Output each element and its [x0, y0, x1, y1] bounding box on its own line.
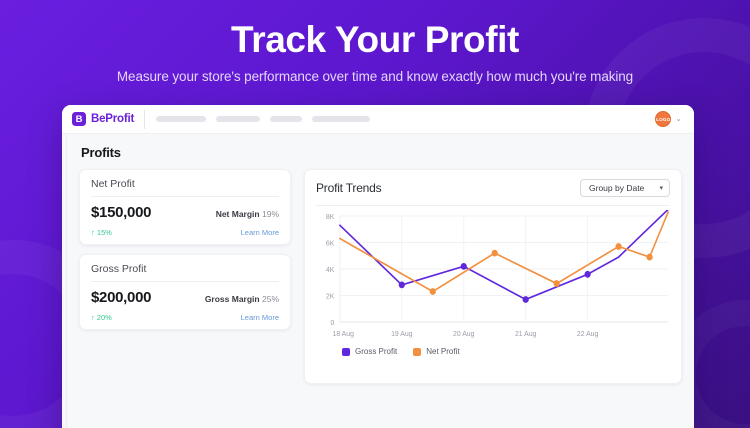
divider [91, 281, 279, 282]
legend-label: Net Profit [426, 347, 459, 356]
data-point-net-profit [615, 243, 621, 250]
promo-banner: Track Your Profit Measure your store's p… [0, 0, 750, 428]
kpi-label: Gross Profit [91, 263, 279, 281]
kpi-value: $150,000 [91, 204, 151, 221]
chart-legend: Gross ProfitNet Profit [316, 342, 670, 356]
kpi-delta-up: ↑ 15% [91, 228, 112, 237]
brand-name: BeProfit [91, 113, 134, 125]
account-logo-avatar: LOGO [655, 111, 671, 127]
brand-logo[interactable]: B BeProfit [72, 110, 145, 129]
kpi-margin: Gross Margin 25% [205, 294, 279, 304]
legend-swatch-icon [342, 348, 350, 356]
y-tick-label: 6K [326, 238, 335, 247]
nav-placeholder-4[interactable] [312, 116, 370, 122]
divider [91, 196, 279, 197]
y-tick-label: 2K [326, 291, 335, 300]
nav-placeholder-3[interactable] [270, 116, 302, 122]
chevron-down-icon: ▾ [659, 184, 663, 192]
kpi-delta-up: ↑ 20% [91, 313, 112, 322]
kpi-column: Net Profit $150,000 Net Margin 19% ↑ 15%… [79, 169, 291, 330]
kpi-footer-row: ↑ 15% Learn More [91, 221, 279, 237]
app-topbar: B BeProfit LOGO ⌄ [62, 105, 694, 134]
divider [316, 205, 670, 206]
nav-placeholder-1[interactable] [156, 116, 206, 122]
data-point-net-profit [554, 280, 560, 287]
y-tick-label: 0 [331, 318, 335, 327]
kpi-margin-value: 19% [262, 209, 279, 219]
chart-header: Profit Trends Group by Date ▾ [316, 179, 670, 197]
x-tick-label: 21 Aug [515, 329, 536, 338]
legend-label: Gross Profit [355, 347, 397, 356]
data-point-net-profit [646, 254, 652, 261]
legend-item-1[interactable]: Net Profit [413, 347, 459, 356]
data-point-net-profit [430, 288, 436, 295]
kpi-main-row: $150,000 Net Margin 19% [91, 204, 279, 221]
data-point-gross-profit [585, 271, 591, 278]
legend-swatch-icon [413, 348, 421, 356]
kpi-value: $200,000 [91, 289, 151, 306]
learn-more-link[interactable]: Learn More [241, 228, 279, 237]
kpi-margin: Net Margin 19% [216, 209, 279, 219]
app-body: Profits Net Profit $150,000 Net Margin 1… [62, 134, 694, 428]
account-menu[interactable]: LOGO ⌄ [655, 111, 682, 127]
kpi-margin-label: Net Margin [216, 209, 260, 219]
profit-trends-panel: Profit Trends Group by Date ▾ 02K4K6K8K1… [304, 169, 682, 384]
learn-more-link[interactable]: Learn More [241, 313, 279, 322]
x-tick-label: 20 Aug [453, 329, 474, 338]
content-area: Profits Net Profit $150,000 Net Margin 1… [67, 134, 694, 428]
kpi-main-row: $200,000 Gross Margin 25% [91, 289, 279, 306]
data-point-gross-profit [523, 296, 529, 303]
y-tick-label: 8K [326, 212, 335, 221]
panels-row: Net Profit $150,000 Net Margin 19% ↑ 15%… [79, 169, 682, 384]
data-point-gross-profit [461, 263, 467, 270]
app-window-mockup: B BeProfit LOGO ⌄ Profits Net Profit [62, 105, 694, 428]
x-tick-label: 18 Aug [333, 329, 354, 338]
kpi-footer-row: ↑ 20% Learn More [91, 306, 279, 322]
kpi-margin-label: Gross Margin [205, 294, 260, 304]
hero-subtitle: Measure your store's performance over ti… [0, 60, 750, 84]
kpi-card-net-profit[interactable]: Net Profit $150,000 Net Margin 19% ↑ 15%… [79, 169, 291, 245]
kpi-card-gross-profit[interactable]: Gross Profit $200,000 Gross Margin 25% ↑… [79, 254, 291, 330]
series-line-gross-profit [340, 210, 668, 299]
chart-plot-area[interactable]: 02K4K6K8K18 Aug19 Aug20 Aug21 Aug22 Aug [316, 210, 670, 342]
nav-placeholders [156, 116, 655, 122]
chevron-down-icon: ⌄ [675, 115, 682, 123]
beprofit-badge-icon: B [72, 112, 86, 126]
kpi-margin-value: 25% [262, 294, 279, 304]
page-title: Profits [79, 144, 682, 169]
data-point-net-profit [492, 250, 498, 257]
hero-title: Track Your Profit [0, 0, 750, 60]
x-tick-label: 19 Aug [391, 329, 412, 338]
x-tick-label: 22 Aug [577, 329, 598, 338]
chart-title: Profit Trends [316, 181, 381, 195]
data-point-gross-profit [399, 282, 405, 289]
y-tick-label: 4K [326, 265, 335, 274]
line-chart-svg: 02K4K6K8K18 Aug19 Aug20 Aug21 Aug22 Aug [316, 210, 670, 342]
nav-placeholder-2[interactable] [216, 116, 260, 122]
hero-section: Track Your Profit Measure your store's p… [0, 0, 750, 84]
group-by-date-dropdown[interactable]: Group by Date ▾ [580, 179, 670, 197]
kpi-label: Net Profit [91, 178, 279, 196]
series-line-net-profit [340, 212, 668, 292]
legend-item-0[interactable]: Gross Profit [342, 347, 397, 356]
group-by-label: Group by Date [589, 183, 644, 193]
